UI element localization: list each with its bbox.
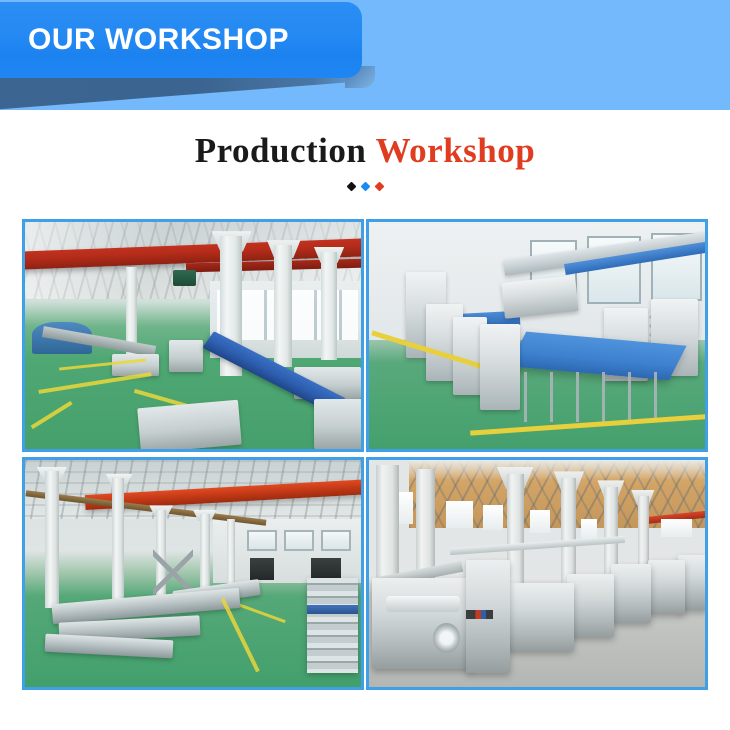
photo-frame-assembly-hall[interactable] xyxy=(22,457,364,690)
photo4-window xyxy=(581,519,598,539)
photo1-pillar xyxy=(321,252,338,361)
photo4-machine xyxy=(372,578,473,669)
photo4-handwheel xyxy=(433,623,460,653)
photo4-window xyxy=(661,519,691,537)
photo2-conveyor-legs xyxy=(524,372,658,422)
photo4-window xyxy=(399,492,412,524)
photo-production-line xyxy=(369,222,705,449)
page-title-accent: Workshop xyxy=(376,131,536,170)
photo4-machine xyxy=(567,574,614,638)
photo3-doorway xyxy=(311,558,341,581)
photo1-crane-hoist xyxy=(173,270,197,286)
photo1-machine xyxy=(169,340,203,372)
photo-machine-row xyxy=(369,460,705,687)
photo3-window xyxy=(284,530,314,550)
diamond-black-icon xyxy=(346,182,356,192)
photo4-roller xyxy=(386,596,460,612)
workshop-page: OUR WORKSHOP Production Workshop xyxy=(0,0,730,730)
section-title-block: Production Workshop xyxy=(0,110,730,193)
photo4-window xyxy=(530,510,550,533)
photo3-metal-rack xyxy=(307,578,357,673)
photo1-machine xyxy=(137,399,241,449)
page-title-primary: Production xyxy=(195,131,367,170)
photo-frame-workshop-overview[interactable] xyxy=(22,219,364,452)
workshop-photo-grid xyxy=(22,219,708,690)
diamond-blue-icon xyxy=(360,182,370,192)
photo3-window xyxy=(321,530,351,550)
photo1-machine xyxy=(314,399,361,449)
page-title: Production Workshop xyxy=(0,132,730,171)
photo3-window xyxy=(247,530,277,550)
photo-assembly-hall xyxy=(25,460,361,687)
photo-workshop-overview xyxy=(25,222,361,449)
photo3-pillar xyxy=(45,471,59,607)
photo4-window xyxy=(446,501,473,528)
photo4-machine xyxy=(507,583,574,651)
photo1-machine xyxy=(112,354,159,377)
photo4-control-panel xyxy=(466,610,493,619)
photo2-machine xyxy=(480,324,520,410)
photo4-machine xyxy=(611,564,651,623)
photo3-pillar xyxy=(112,478,124,601)
diamond-red-icon xyxy=(374,182,384,192)
photo4-window xyxy=(483,505,503,530)
page-banner: OUR WORKSHOP xyxy=(0,0,730,110)
photo-frame-production-line[interactable] xyxy=(366,219,708,452)
banner-tab: OUR WORKSHOP xyxy=(0,2,362,78)
photo3-rack-blue-band xyxy=(307,605,357,614)
photo1-pillar xyxy=(274,245,292,368)
photo3-doorway xyxy=(250,558,274,581)
banner-tab-label: OUR WORKSHOP xyxy=(28,23,289,57)
photo4-machine xyxy=(648,560,685,614)
photo-frame-machine-row[interactable] xyxy=(366,457,708,690)
title-divider xyxy=(0,181,730,193)
